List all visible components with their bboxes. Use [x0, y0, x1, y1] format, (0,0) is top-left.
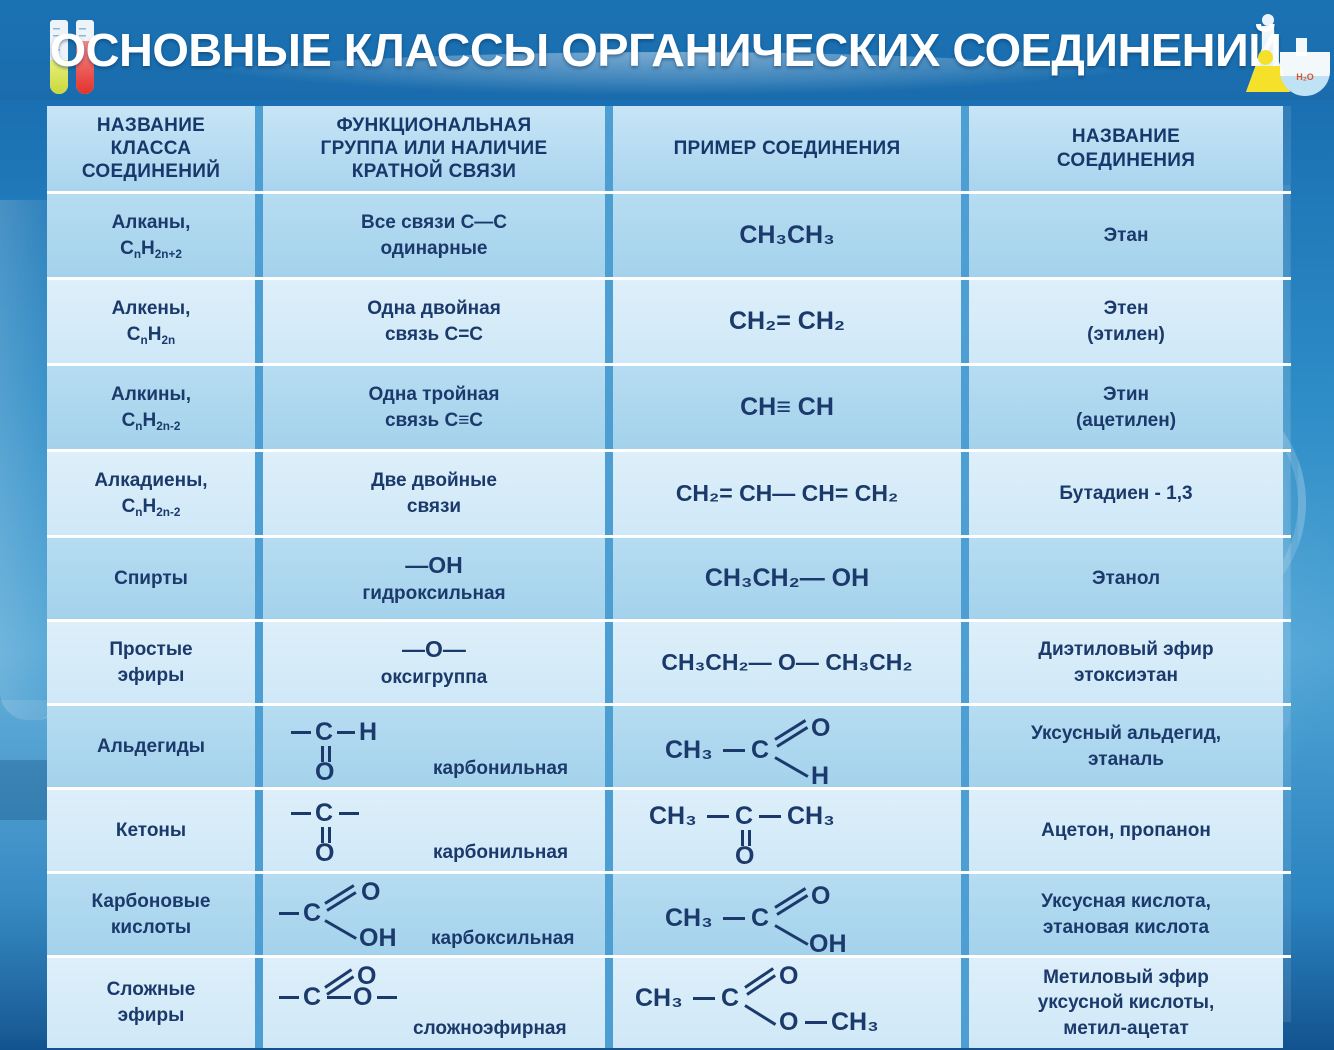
- group-line: гидроксильная: [362, 583, 505, 604]
- cell-functional-group: C H O карбонильная: [263, 706, 613, 787]
- header-line: СОЕДИНЕНИЙ: [82, 161, 220, 182]
- ester-group-structure: C O O сложноэфирная: [263, 958, 605, 1048]
- atom-o: O: [811, 714, 830, 743]
- cell-compound-name: Ацетон, пропанон: [969, 790, 1283, 871]
- header-line: НАЗВАНИЕ: [97, 115, 205, 136]
- group-line: —ОН: [405, 552, 463, 578]
- header-line: ФУНКЦИОНАЛЬНАЯ: [337, 115, 532, 136]
- atom-o: O: [315, 839, 334, 868]
- cell-example: CH₂= CH— CH= CH₂: [613, 452, 969, 535]
- cell-example: CH₃ C CH₃ O: [613, 790, 969, 871]
- cell-compound-name: Уксусный альдегид, этаналь: [969, 706, 1283, 787]
- cell-example: CH₃CH₃: [613, 194, 969, 277]
- cell-example: CH₃ C O H: [613, 706, 969, 787]
- group-name-label: карбонильная: [433, 842, 568, 864]
- compound-label: этоксиэтан: [1074, 665, 1178, 686]
- cell-example: CH₃ C O O CH₃: [613, 958, 969, 1048]
- compound-label: уксусной кислоты,: [1038, 992, 1215, 1013]
- atom-oh: OH: [809, 930, 847, 959]
- cell-example: CH₃CH₂— O— CH₃CH₂: [613, 622, 969, 703]
- group-line: Все связи С—С: [361, 212, 507, 233]
- acetic-acid-structure: CH₃ C O OH: [613, 874, 961, 955]
- cell-functional-group: C O O сложноэфирная: [263, 958, 613, 1048]
- cell-compound-name: Бутадиен - 1,3: [969, 452, 1283, 535]
- header-line: СОЕДИНЕНИЯ: [1057, 150, 1195, 171]
- general-formula: CnH2n+2: [120, 238, 182, 259]
- atom-o: O: [779, 962, 798, 991]
- example-formula: CH₂= CH— CH= CH₂: [676, 480, 898, 507]
- example-formula: CH≡ CH: [740, 393, 834, 422]
- atom-ch3: CH₃: [649, 802, 697, 831]
- cell-class-name: Алканы, CnH2n+2: [47, 194, 263, 277]
- cell-compound-name: Метиловый эфир уксусной кислоты, метил-а…: [969, 958, 1283, 1048]
- compound-label: (ацетилен): [1076, 410, 1176, 431]
- bubble-icon: [1258, 50, 1273, 65]
- class-label: Алкадиены,: [94, 470, 207, 491]
- group-line: Одна двойная: [367, 298, 501, 319]
- cell-compound-name: Этен (этилен): [969, 280, 1283, 363]
- bubble-icon: [1262, 14, 1274, 26]
- flask-icon: H₂O: [1240, 12, 1328, 98]
- atom-h: H: [359, 718, 377, 747]
- group-line: связь С≡С: [385, 410, 483, 431]
- header-functional-group: ФУНКЦИОНАЛЬНАЯ ГРУППА ИЛИ НАЛИЧИЕ КРАТНО…: [263, 106, 613, 191]
- cell-example: CH≡ CH: [613, 366, 969, 449]
- atom-oh: OH: [359, 924, 397, 953]
- atom-c: C: [303, 983, 321, 1012]
- cell-functional-group: Одна двойная связь С=С: [263, 280, 613, 363]
- header-compound-name: НАЗВАНИЕ СОЕДИНЕНИЯ: [969, 106, 1283, 191]
- cell-class-name: Алкадиены, CnH2n-2: [47, 452, 263, 535]
- compound-label: Ацетон, пропанон: [1041, 820, 1211, 841]
- cell-functional-group: Две двойные связи: [263, 452, 613, 535]
- header-line: КРАТНОЙ СВЯЗИ: [352, 161, 517, 182]
- cell-compound-name: Диэтиловый эфир этоксиэтан: [969, 622, 1283, 703]
- compound-label: этаналь: [1088, 749, 1164, 770]
- compound-label: Этин: [1103, 384, 1149, 405]
- header-line: НАЗВАНИЕ: [1072, 126, 1180, 147]
- class-label: Алкины,: [111, 384, 191, 405]
- atom-c: C: [303, 899, 321, 928]
- cell-class-name: Карбоновые кислоты: [47, 874, 263, 955]
- methyl-acetate-structure: CH₃ C O O CH₃: [613, 958, 961, 1048]
- header-example: ПРИМЕР СОЕДИНЕНИЯ: [613, 106, 969, 191]
- atom-o: O: [353, 983, 372, 1012]
- table-row: Кетоны C O карбонильная CH₃ C CH₃: [47, 790, 1291, 874]
- cell-example: CH₃CH₂— OH: [613, 538, 969, 619]
- group-line: —О—: [402, 636, 466, 662]
- compound-label: Метиловый эфир: [1043, 967, 1209, 988]
- header-line: ПРИМЕР СОЕДИНЕНИЯ: [674, 138, 901, 159]
- group-line: Одна тройная: [368, 384, 499, 405]
- atom-c: C: [735, 802, 753, 831]
- compound-label: Этен: [1104, 298, 1149, 319]
- cell-functional-group: C O карбонильная: [263, 790, 613, 871]
- table-row: Альдегиды C H O карбонильная CH₃ C O: [47, 706, 1291, 790]
- atom-o: O: [361, 878, 380, 907]
- cell-functional-group: Одна тройная связь С≡С: [263, 366, 613, 449]
- example-formula: CH₂= CH₂: [729, 307, 845, 336]
- page-title: ОСНОВНЫЕ КЛАССЫ ОРГАНИЧЕСКИХ СОЕДИНЕНИЙ: [66, 14, 1265, 86]
- group-line: связь С=С: [385, 324, 483, 345]
- compound-label: Этан: [1104, 225, 1149, 246]
- group-name-label: карбонильная: [433, 758, 568, 780]
- table-row: Алкадиены, CnH2n-2 Две двойные связи CH₂…: [47, 452, 1291, 538]
- ketone-group-structure: C O карбонильная: [263, 790, 605, 871]
- class-label: Карбоновые: [92, 891, 211, 912]
- class-label: кислоты: [111, 917, 191, 938]
- cell-class-name: Алкены, CnH2n: [47, 280, 263, 363]
- compound-classes-table: НАЗВАНИЕ КЛАССА СОЕДИНЕНИЙ ФУНКЦИОНАЛЬНА…: [47, 106, 1291, 1022]
- group-line: одинарные: [380, 238, 487, 259]
- compound-label: метил-ацетат: [1063, 1018, 1189, 1039]
- atom-c: C: [751, 736, 769, 765]
- atom-o: O: [735, 842, 754, 871]
- example-formula: CH₃CH₂— O— CH₃CH₂: [661, 649, 912, 676]
- class-label: Альдегиды: [97, 736, 205, 757]
- cell-functional-group: C O OH карбоксильная: [263, 874, 613, 955]
- class-label: Простые: [109, 639, 192, 660]
- cell-compound-name: Уксусная кислота, этановая кислота: [969, 874, 1283, 955]
- group-name-label: карбоксильная: [431, 928, 574, 950]
- class-label: эфиры: [118, 665, 185, 686]
- compound-label: этановая кислота: [1043, 917, 1209, 938]
- atom-c: C: [751, 904, 769, 933]
- cell-functional-group: —ОН гидроксильная: [263, 538, 613, 619]
- cell-class-name: Простые эфиры: [47, 622, 263, 703]
- atom-o: O: [811, 882, 830, 911]
- example-formula: CH₃CH₃: [739, 221, 834, 250]
- group-line: связи: [407, 496, 461, 517]
- compound-label: Уксусная кислота,: [1041, 891, 1211, 912]
- cell-example: CH₃ C O OH: [613, 874, 969, 955]
- cell-class-name: Кетоны: [47, 790, 263, 871]
- cell-class-name: Спирты: [47, 538, 263, 619]
- atom-o: O: [315, 758, 334, 787]
- atom-ch3: CH₃: [665, 904, 713, 933]
- compound-label: Этанол: [1092, 568, 1160, 589]
- atom-c: C: [315, 718, 333, 747]
- aldehyde-group-structure: C H O карбонильная: [263, 706, 605, 787]
- group-line: оксигруппа: [381, 667, 487, 688]
- header-line: ГРУППА ИЛИ НАЛИЧИЕ: [321, 138, 548, 159]
- atom-ch3: CH₃: [787, 802, 835, 831]
- atom-ch3: CH₃: [831, 1008, 879, 1037]
- class-label: Спирты: [114, 568, 188, 589]
- compound-label: Диэтиловый эфир: [1038, 639, 1213, 660]
- table-row: Простые эфиры —О— оксигруппа CH₃CH₂— O— …: [47, 622, 1291, 706]
- table-row: Сложные эфиры C O O сложноэфирная CH₃ C: [47, 958, 1291, 1048]
- compound-label: Бутадиен - 1,3: [1059, 483, 1192, 504]
- table-row: Алкины, CnH2n-2 Одна тройная связь С≡С C…: [47, 366, 1291, 452]
- table-row: Спирты —ОН гидроксильная CH₃CH₂— OH Этан…: [47, 538, 1291, 622]
- cell-functional-group: —О— оксигруппа: [263, 622, 613, 703]
- atom-c: C: [721, 984, 739, 1013]
- compound-label: Уксусный альдегид,: [1031, 723, 1221, 744]
- example-formula: CH₃CH₂— OH: [705, 564, 869, 593]
- cell-example: CH₂= CH₂: [613, 280, 969, 363]
- cell-functional-group: Все связи С—С одинарные: [263, 194, 613, 277]
- cell-compound-name: Этан: [969, 194, 1283, 277]
- cell-compound-name: Этанол: [969, 538, 1283, 619]
- atom-ch3: CH₃: [665, 736, 713, 765]
- cell-class-name: Альдегиды: [47, 706, 263, 787]
- acetaldehyde-structure: CH₃ C O H: [613, 706, 961, 787]
- group-name-label: сложноэфирная: [413, 1018, 567, 1040]
- class-label: Алканы,: [112, 212, 191, 233]
- title-bar: ОСНОВНЫЕ КЛАССЫ ОРГАНИЧЕСКИХ СОЕДИНЕНИЙ …: [0, 0, 1334, 100]
- table-header-row: НАЗВАНИЕ КЛАССА СОЕДИНЕНИЙ ФУНКЦИОНАЛЬНА…: [47, 106, 1291, 194]
- carboxyl-group-structure: C O OH карбоксильная: [263, 874, 605, 955]
- class-label: Сложные: [107, 979, 196, 1000]
- compound-label: (этилен): [1087, 324, 1165, 345]
- class-label: эфиры: [118, 1005, 185, 1026]
- header-class-name: НАЗВАНИЕ КЛАССА СОЕДИНЕНИЙ: [47, 106, 263, 191]
- general-formula: CnH2n: [127, 324, 175, 345]
- atom-c: C: [315, 799, 333, 828]
- table-row: Алкены, CnH2n Одна двойная связь С=С CH₂…: [47, 280, 1291, 366]
- class-label: Кетоны: [116, 820, 186, 841]
- group-line: Две двойные: [371, 470, 497, 491]
- general-formula: CnH2n-2: [122, 496, 181, 517]
- table-row: Карбоновые кислоты C O OH карбоксильная …: [47, 874, 1291, 958]
- flask-label: H₂O: [1288, 72, 1322, 82]
- cell-class-name: Алкины, CnH2n-2: [47, 366, 263, 449]
- atom-o: O: [779, 1008, 798, 1037]
- atom-h: H: [811, 762, 829, 791]
- cell-compound-name: Этин (ацетилен): [969, 366, 1283, 449]
- table-row: Алканы, CnH2n+2 Все связи С—С одинарные …: [47, 194, 1291, 280]
- atom-ch3: CH₃: [635, 984, 683, 1013]
- acetone-structure: CH₃ C CH₃ O: [613, 790, 961, 871]
- header-line: КЛАССА: [111, 138, 192, 159]
- class-label: Алкены,: [112, 298, 191, 319]
- cell-class-name: Сложные эфиры: [47, 958, 263, 1048]
- general-formula: CnH2n-2: [122, 410, 181, 431]
